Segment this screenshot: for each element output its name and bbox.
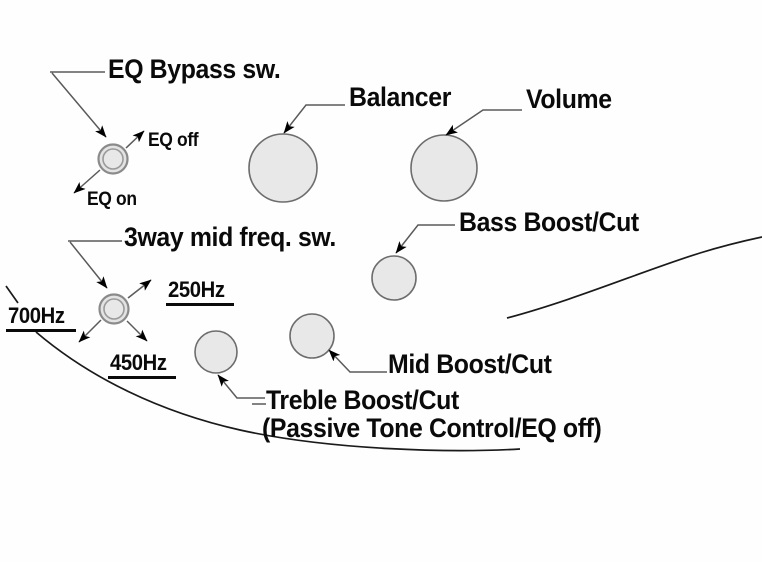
mid-freq-switch[interactable] xyxy=(100,295,129,324)
mid-freq-switch-face[interactable] xyxy=(104,299,124,319)
freq-450-label: 450Hz xyxy=(110,352,167,374)
freq-700-arrow xyxy=(79,320,101,342)
eq-bypass-leader xyxy=(50,72,106,137)
control-layout-diagram: EQ Bypass sw. EQ off EQ on Balancer Volu… xyxy=(0,0,762,562)
eq-bypass-switch[interactable] xyxy=(99,145,128,174)
eq-off-label: EQ off xyxy=(148,131,198,150)
mid-knob[interactable] xyxy=(290,314,334,358)
treble-leader xyxy=(218,375,265,398)
mid-freq-sw-label: 3way mid freq. sw. xyxy=(124,224,336,252)
eq-bypass-label: EQ Bypass sw. xyxy=(108,56,280,84)
volume-label: Volume xyxy=(526,86,612,114)
bass-knob[interactable] xyxy=(372,256,416,300)
balancer-knob[interactable] xyxy=(249,134,317,202)
eq-on-label: EQ on xyxy=(87,190,137,209)
body-contour-right xyxy=(507,237,762,318)
bass-leader xyxy=(396,225,455,253)
freq-450-underline xyxy=(108,376,176,379)
treble-knob[interactable] xyxy=(195,331,237,373)
balancer-leader xyxy=(284,105,345,133)
freq-250-label: 250Hz xyxy=(168,279,225,301)
mid-leader xyxy=(329,350,387,372)
mid-boost-cut-label: Mid Boost/Cut xyxy=(388,351,552,379)
balancer-label: Balancer xyxy=(349,84,451,112)
freq-700-label: 700Hz xyxy=(8,305,65,327)
freq-250-arrow xyxy=(128,280,151,298)
bass-boost-cut-label: Bass Boost/Cut xyxy=(459,209,639,237)
volume-knob[interactable] xyxy=(411,135,477,201)
treble-subtitle-label: (Passive Tone Control/EQ off) xyxy=(262,415,601,443)
body-contour-left-tick xyxy=(6,286,18,303)
freq-700-underline xyxy=(6,329,76,332)
mid-freq-leader xyxy=(68,241,122,288)
volume-leader xyxy=(446,110,522,135)
eq-bypass-switch-face[interactable] xyxy=(103,149,123,169)
freq-250-underline xyxy=(166,303,234,306)
treble-boost-cut-label: Treble Boost/Cut xyxy=(266,387,459,415)
freq-450-arrow xyxy=(127,321,147,341)
eq-off-arrow xyxy=(126,131,144,148)
